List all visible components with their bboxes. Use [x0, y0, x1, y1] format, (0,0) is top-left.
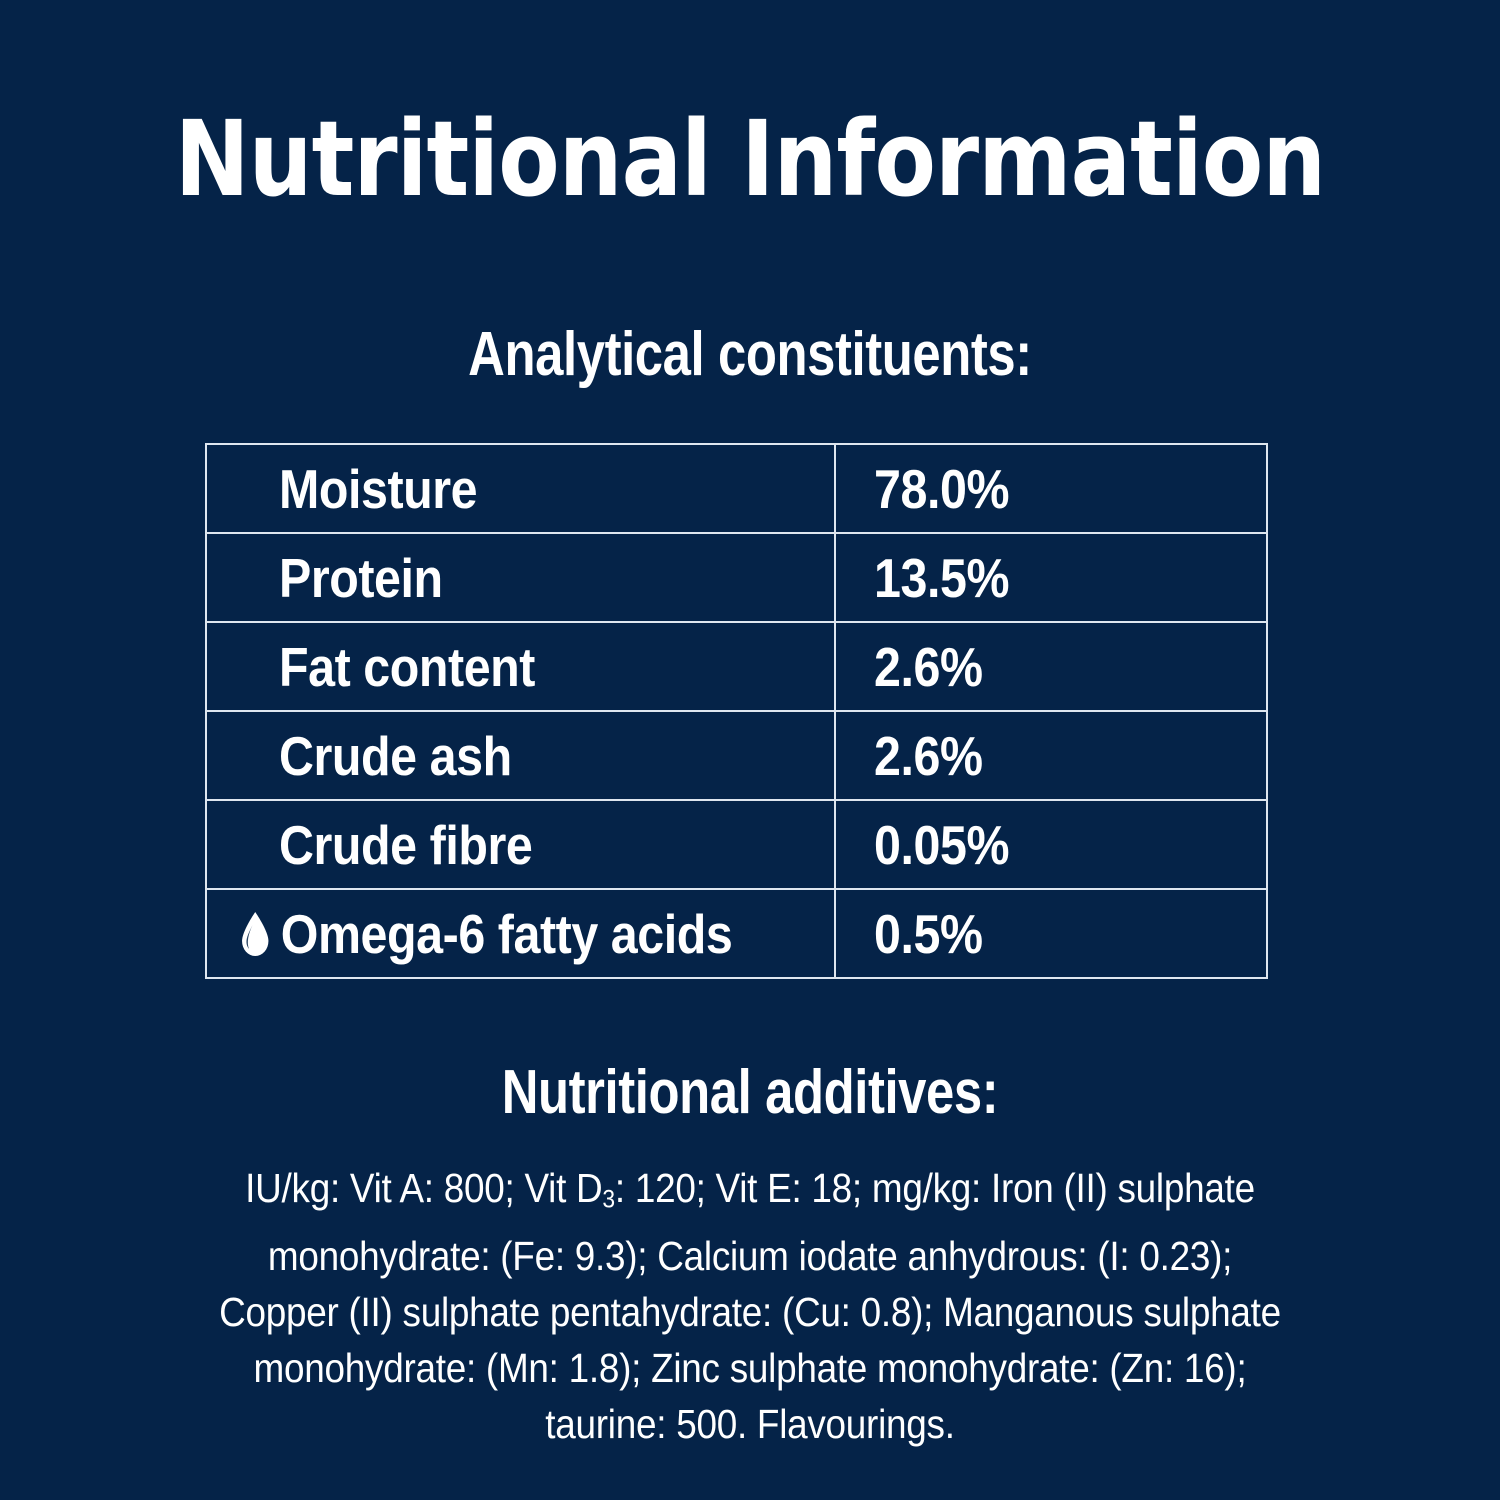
constituent-value: 2.6% [874, 638, 983, 696]
droplet-icon [240, 911, 270, 957]
table-row: Moisture78.0% [207, 445, 1266, 534]
table-row: Crude ash2.6% [207, 712, 1266, 801]
constituent-label-cell: Crude fibre [207, 801, 836, 888]
table-row: Fat content2.6% [207, 623, 1266, 712]
nutritional-additives-heading: Nutritional additives: [135, 1058, 1365, 1128]
constituent-value: 0.5% [874, 905, 983, 963]
constituent-label-cell: Omega-6 fatty acids [207, 890, 836, 977]
constituent-value-cell: 13.5% [836, 534, 1266, 621]
constituent-value-cell: 0.5% [836, 890, 1266, 977]
nutritional-information-panel: Nutritional Information Analytical const… [0, 0, 1500, 1500]
table-row: Omega-6 fatty acids0.5% [207, 890, 1266, 977]
analytical-constituents-table: Moisture78.0%Protein13.5%Fat content2.6%… [205, 443, 1268, 979]
additives-line: monohydrate: (Fe: 9.3); Calcium iodate a… [165, 1228, 1335, 1284]
constituent-label: Protein [279, 549, 443, 607]
nutritional-additives-text: IU/kg: Vit A: 800; Vit D3: 120; Vit E: 1… [100, 1160, 1400, 1452]
page-title: Nutritional Information [105, 104, 1395, 214]
additives-line: IU/kg: Vit A: 800; Vit D3: 120; Vit E: 1… [165, 1160, 1335, 1228]
table-row: Crude fibre0.05% [207, 801, 1266, 890]
additives-line: taurine: 500. Flavourings. [165, 1396, 1335, 1452]
constituent-label: Crude ash [279, 727, 512, 785]
constituent-label-cell: Moisture [207, 445, 836, 532]
constituent-value: 0.05% [874, 816, 1009, 874]
constituent-label-cell: Crude ash [207, 712, 836, 799]
constituent-label: Crude fibre [279, 816, 532, 874]
constituent-value-cell: 2.6% [836, 623, 1266, 710]
additives-line: monohydrate: (Mn: 1.8); Zinc sulphate mo… [165, 1340, 1335, 1396]
additives-line: Copper (II) sulphate pentahydrate: (Cu: … [165, 1284, 1335, 1340]
constituent-label-cell: Protein [207, 534, 836, 621]
constituent-value-cell: 0.05% [836, 801, 1266, 888]
analytical-constituents-heading: Analytical constituents: [135, 320, 1365, 390]
constituent-label: Omega-6 fatty acids [279, 905, 732, 963]
constituent-label: Fat content [279, 638, 535, 696]
constituent-value: 78.0% [874, 460, 1009, 518]
table-row: Protein13.5% [207, 534, 1266, 623]
constituent-value-cell: 2.6% [836, 712, 1266, 799]
constituent-label: Moisture [279, 460, 477, 518]
constituent-value-cell: 78.0% [836, 445, 1266, 532]
constituent-value: 2.6% [874, 727, 983, 785]
constituent-value: 13.5% [874, 549, 1009, 607]
constituent-label-cell: Fat content [207, 623, 836, 710]
